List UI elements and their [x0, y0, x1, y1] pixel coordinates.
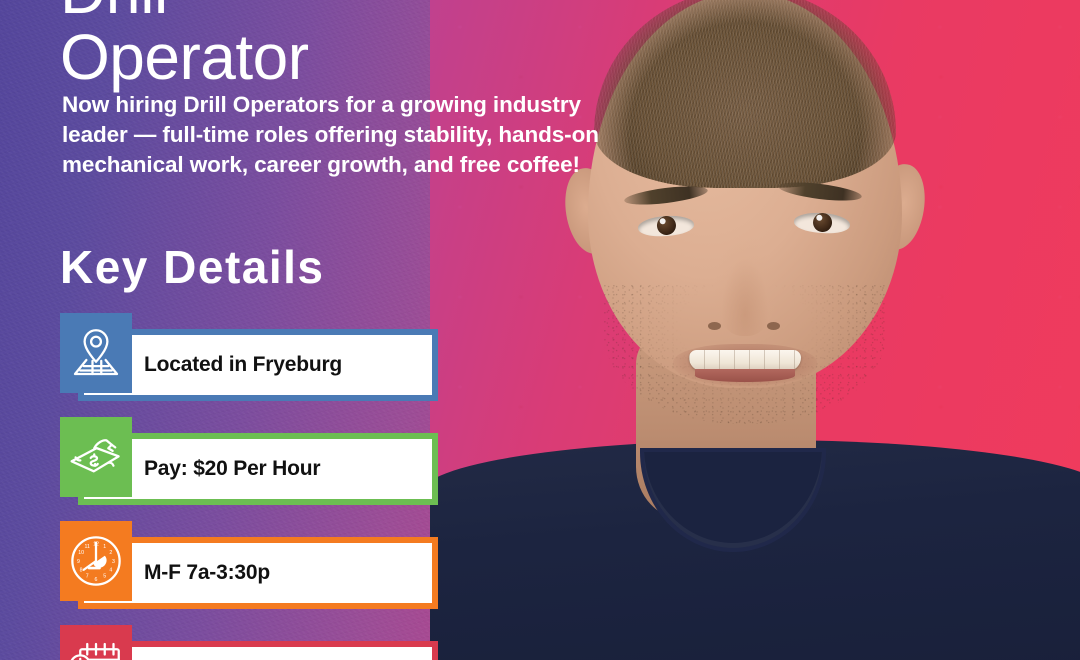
key-details-list: Located in Fryeburg Pay: $20 Per Hour	[0, 313, 460, 660]
detail-card-hours: M-F 7a-3:30p 121 23 45 67 89	[0, 521, 460, 625]
detail-card-bar	[78, 641, 438, 660]
map-pin-icon	[60, 313, 132, 393]
svg-text:9: 9	[77, 559, 80, 565]
poster-subtitle: Now hiring Drill Operators for a growing…	[62, 90, 610, 180]
detail-card-location: Located in Fryeburg	[0, 313, 460, 417]
nostril-left	[708, 322, 721, 330]
detail-card-schedule	[0, 625, 460, 660]
section-heading-key-details: Key Details	[60, 240, 325, 294]
detail-card-bar: Pay: $20 Per Hour	[78, 433, 438, 505]
svg-text:6: 6	[95, 577, 98, 583]
svg-text:2: 2	[109, 550, 112, 556]
detail-card-pay: Pay: $20 Per Hour	[0, 417, 460, 521]
svg-text:5: 5	[103, 574, 106, 580]
cash-hand-icon	[60, 417, 132, 497]
svg-text:8: 8	[80, 568, 83, 574]
job-posting-poster: Drill Operator Now hiring Drill Operator…	[0, 0, 1080, 660]
poster-content: Drill Operator Now hiring Drill Operator…	[0, 0, 640, 660]
svg-text:7: 7	[86, 574, 89, 580]
page-title: Drill Operator	[60, 0, 309, 90]
nose	[713, 238, 777, 336]
clock-icon: 121 23 45 67 89 1011	[60, 521, 132, 601]
svg-text:12: 12	[93, 541, 99, 547]
svg-text:4: 4	[109, 568, 112, 574]
calendar-clock-icon	[60, 625, 132, 660]
detail-card-bar: M-F 7a-3:30p	[78, 537, 438, 609]
mouth	[673, 344, 817, 386]
lower-lip	[695, 369, 795, 382]
svg-text:11: 11	[85, 544, 91, 550]
svg-text:3: 3	[112, 559, 115, 565]
svg-text:1: 1	[103, 544, 106, 550]
nostril-right	[767, 322, 780, 330]
svg-text:10: 10	[78, 550, 84, 556]
teeth	[689, 350, 801, 371]
detail-card-bar: Located in Fryeburg	[78, 329, 438, 401]
